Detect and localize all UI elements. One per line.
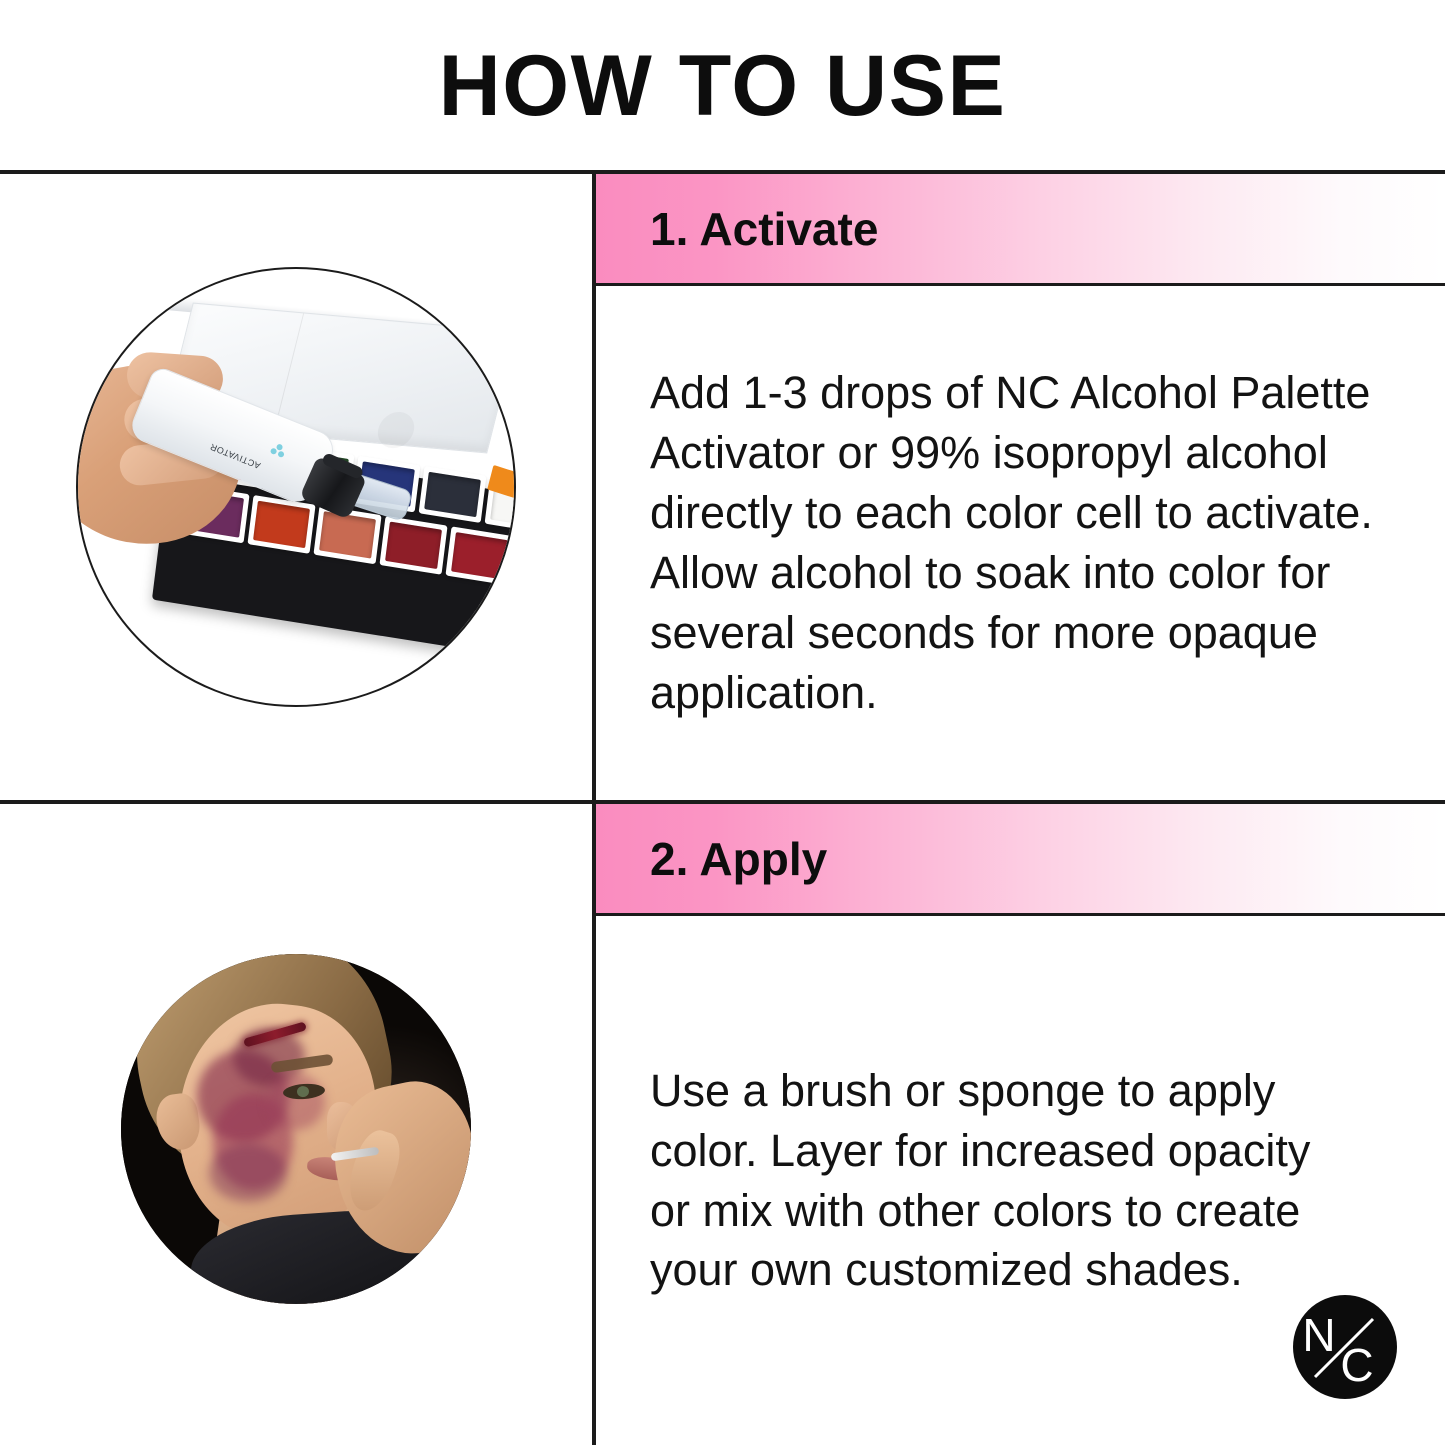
sfx-illustration — [121, 954, 471, 1304]
step-1-header-band: 1. Activate — [596, 174, 1445, 286]
palette-illustration: ACTIVATOR — [78, 269, 514, 705]
svg-text:N: N — [1302, 1309, 1335, 1361]
step-2-text: Use a brush or sponge to apply color. La… — [596, 1061, 1445, 1300]
step-2-header-band: 2. Apply — [596, 804, 1445, 916]
page-title: HOW TO USE — [439, 43, 1007, 129]
activator-bottle-over-palette-photo: ACTIVATOR — [76, 267, 516, 707]
sfx-bruise-makeup-application-photo — [121, 954, 471, 1304]
infographic-page: HOW TO USE — [0, 0, 1445, 1445]
step-2-label: 2. Apply — [596, 836, 827, 882]
step-1: 1. Activate Add 1-3 drops of NC Alcohol … — [596, 174, 1445, 800]
nc-brand-logo: N C — [1293, 1295, 1397, 1399]
step-1-label: 1. Activate — [596, 206, 878, 252]
palette-cell — [247, 495, 315, 554]
bruise-makeup — [267, 1074, 325, 1130]
step-1-photo-panel: ACTIVATOR — [0, 174, 592, 800]
palette-cell — [379, 516, 447, 575]
palette-cell — [419, 466, 487, 523]
bruise-makeup — [209, 1144, 287, 1202]
title-bar: HOW TO USE — [0, 0, 1445, 172]
flower-icon — [269, 442, 287, 460]
step-1-body: Add 1-3 drops of NC Alcohol Palette Acti… — [596, 286, 1445, 800]
step-2-photo-panel — [0, 804, 592, 1445]
palette-lid-emboss — [374, 410, 418, 449]
palette-cell — [445, 526, 513, 585]
step-1-text: Add 1-3 drops of NC Alcohol Palette Acti… — [596, 363, 1445, 722]
